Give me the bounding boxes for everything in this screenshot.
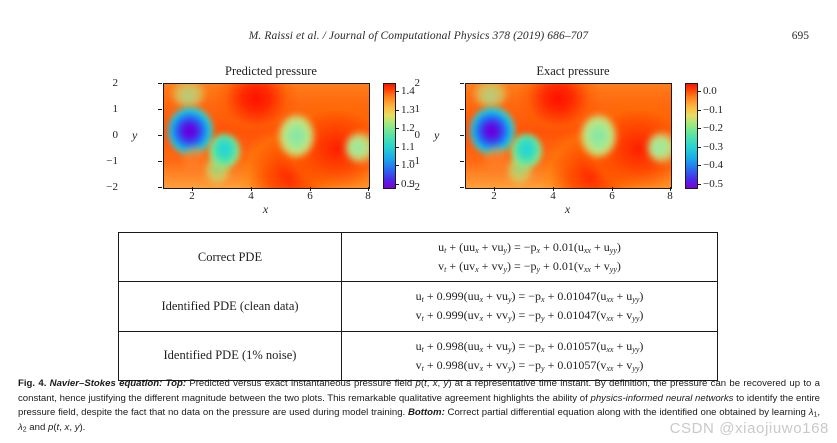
colorbar-tick-mark: [697, 128, 701, 129]
y-tick-label: −2: [384, 181, 420, 193]
colorbar-tick-label: −0.5: [703, 178, 723, 190]
pressure-field-exact: [466, 84, 671, 188]
y-tick-mark: [158, 187, 162, 188]
field-blob-cyan-vortex: [209, 134, 240, 168]
x-tick-label: 4: [248, 190, 254, 202]
figure-number: Fig. 4.: [18, 378, 46, 389]
equation-u: ut + 0.999(uux + vuy) = −px + 0.01047(ux…: [348, 287, 711, 306]
x-axis-label-exact: x: [465, 202, 670, 217]
y-tick-mark: [460, 161, 464, 162]
pde-comparison-table: Correct PDE ut + (uux + vuy) = −px + 0.0…: [118, 232, 718, 381]
y-tick-label: 1: [384, 103, 420, 115]
field-blob-edge-vortex: [346, 132, 370, 163]
figure-panels: Predicted pressure 2 1 0 −1 −2: [0, 64, 837, 219]
y-tick-mark: [158, 161, 162, 162]
y-tick-mark: [460, 187, 464, 188]
y-tick-label: 0: [82, 129, 118, 141]
row-label: Identified PDE (1% noise): [119, 331, 342, 380]
x-tick-label: 6: [609, 190, 615, 202]
y-tick-mark: [460, 83, 464, 84]
chart-title-exact: Exact pressure: [448, 64, 698, 79]
colorbar-tick-mark: [395, 147, 399, 148]
x-axis-label-predicted: x: [163, 202, 368, 217]
colorbar-tick-mark: [697, 165, 701, 166]
y-tick-mark: [158, 83, 162, 84]
colorbar-exact: [685, 83, 698, 189]
x-tick-label: 4: [550, 190, 556, 202]
heatmap-plot-area-predicted: [163, 83, 370, 189]
x-tick-label: 2: [491, 190, 497, 202]
table-row: Identified PDE (1% noise) ut + 0.998(uux…: [119, 331, 718, 380]
x-tick-label: 2: [189, 190, 195, 202]
field-blob-cyan-vortex: [511, 134, 542, 168]
equation-v: vt + 0.998(uvx + vvy) = −py + 0.01057(vx…: [348, 356, 711, 375]
y-tick-mark: [158, 135, 162, 136]
y-axis-label-exact: y: [434, 128, 439, 143]
running-head: M. Raissi et al. / Journal of Computatio…: [0, 30, 837, 50]
colorbar-tick-label: 1.1: [401, 141, 415, 153]
equation-u: ut + 0.998(uux + vuy) = −px + 0.01057(ux…: [348, 337, 711, 356]
colorbar-tick-label: −0.2: [703, 122, 723, 134]
colorbar-tick-mark: [697, 110, 701, 111]
colorbar-tick-label: −0.3: [703, 141, 723, 153]
equation-v: vt + 0.999(uvx + vvy) = −py + 0.01047(vx…: [348, 306, 711, 325]
x-tick-label: 8: [667, 190, 673, 202]
csdn-watermark: CSDN @xiaojiuwo168: [670, 420, 829, 437]
table-row: Identified PDE (clean data) ut + 0.999(u…: [119, 282, 718, 331]
equation-u: ut + (uux + vuy) = −px + 0.01(uxx + uyy): [348, 238, 711, 257]
colorbar-tick-mark: [697, 147, 701, 148]
colorbar-tick-label: −0.4: [703, 159, 723, 171]
colorbar-tick-mark: [395, 91, 399, 92]
table-row: Correct PDE ut + (uux + vuy) = −px + 0.0…: [119, 233, 718, 282]
y-tick-label: −1: [82, 155, 118, 167]
y-tick-label: −1: [384, 155, 420, 167]
y-tick-mark: [460, 109, 464, 110]
colorbar-tick-mark: [697, 91, 701, 92]
y-tick-mark: [460, 135, 464, 136]
field-blob-green-vortex: [581, 115, 616, 157]
y-tick-label: −2: [82, 181, 118, 193]
y-axis-label-predicted: y: [132, 128, 137, 143]
y-tick-mark: [158, 109, 162, 110]
y-tick-label: 1: [82, 103, 118, 115]
x-tick-label: 8: [365, 190, 371, 202]
chart-exact-pressure: Exact pressure 2 1 0 −1 −2: [420, 64, 720, 219]
field-blob-edge-vortex: [648, 132, 672, 163]
field-blob-green-vortex: [279, 115, 314, 157]
row-label: Correct PDE: [119, 233, 342, 282]
x-tick-label: 6: [307, 190, 313, 202]
y-tick-label: 2: [82, 77, 118, 89]
y-tick-label: 0: [384, 129, 420, 141]
journal-citation: M. Raissi et al. / Journal of Computatio…: [0, 30, 837, 42]
row-label: Identified PDE (clean data): [119, 282, 342, 331]
colorbar-tick-label: 0.0: [703, 85, 717, 97]
row-equations: ut + 0.999(uux + vuy) = −px + 0.01047(ux…: [342, 282, 718, 331]
row-equations: ut + 0.998(uux + vuy) = −px + 0.01057(ux…: [342, 331, 718, 380]
chart-predicted-pressure: Predicted pressure 2 1 0 −1 −2: [118, 64, 418, 219]
colorbar-tick-mark: [697, 184, 701, 185]
pressure-field-predicted: [164, 84, 369, 188]
chart-title-predicted: Predicted pressure: [146, 64, 396, 79]
page-number: 695: [792, 30, 809, 42]
row-equations: ut + (uux + vuy) = −px + 0.01(uxx + uyy)…: [342, 233, 718, 282]
equation-v: vt + (uvx + vvy) = −py + 0.01(vxx + vyy): [348, 257, 711, 276]
y-tick-label: 2: [384, 77, 420, 89]
heatmap-plot-area-exact: [465, 83, 672, 189]
colorbar-tick-label: −0.1: [703, 104, 723, 116]
